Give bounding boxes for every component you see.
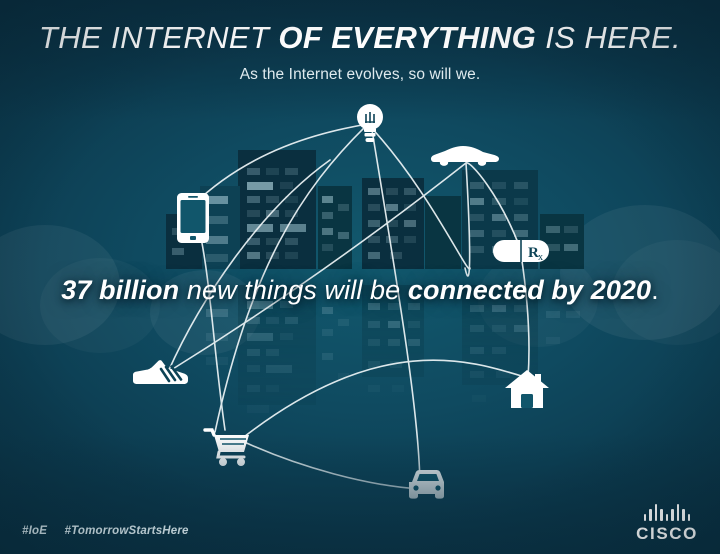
stat-emphasis: connected by 2020: [408, 275, 651, 305]
lightbulb-icon[interactable]: [352, 100, 388, 144]
hashtag-ioe[interactable]: #IoE: [22, 525, 47, 537]
cisco-bars-icon: [636, 504, 698, 521]
smartphone-icon[interactable]: [176, 192, 210, 244]
hashtag-group: #IoE #TomorrowStartsHere: [22, 525, 203, 537]
stat-period: .: [651, 275, 659, 305]
pill-rx-icon[interactable]: R x: [492, 236, 550, 266]
page-subtitle: As the Internet evolves, so will we.: [0, 66, 720, 84]
title-part-2: IS HERE.: [536, 20, 681, 55]
house-icon[interactable]: [503, 366, 551, 410]
car-side-icon[interactable]: [430, 142, 500, 170]
stat-banner: 37 billion new things will be connected …: [0, 275, 720, 306]
infographic-canvas: R x: [0, 0, 720, 554]
header-block: THE INTERNET OF EVERYTHING IS HERE. As t…: [0, 22, 720, 84]
title-part-bold: OF EVERYTHING: [278, 20, 536, 55]
page-title: THE INTERNET OF EVERYTHING IS HERE.: [0, 22, 720, 55]
svg-text:x: x: [538, 252, 543, 263]
stat-number: 37 billion: [61, 275, 179, 305]
title-part-1: THE INTERNET: [39, 20, 278, 55]
sneaker-icon[interactable]: [131, 358, 191, 392]
stat-middle-text: new things will be: [179, 275, 408, 305]
cisco-logo: CISCO: [636, 504, 698, 542]
hashtag-tomorrow-starts-here[interactable]: #TomorrowStartsHere: [65, 525, 189, 537]
stat-line: 37 billion new things will be connected …: [61, 275, 659, 306]
cisco-wordmark: CISCO: [636, 525, 698, 542]
